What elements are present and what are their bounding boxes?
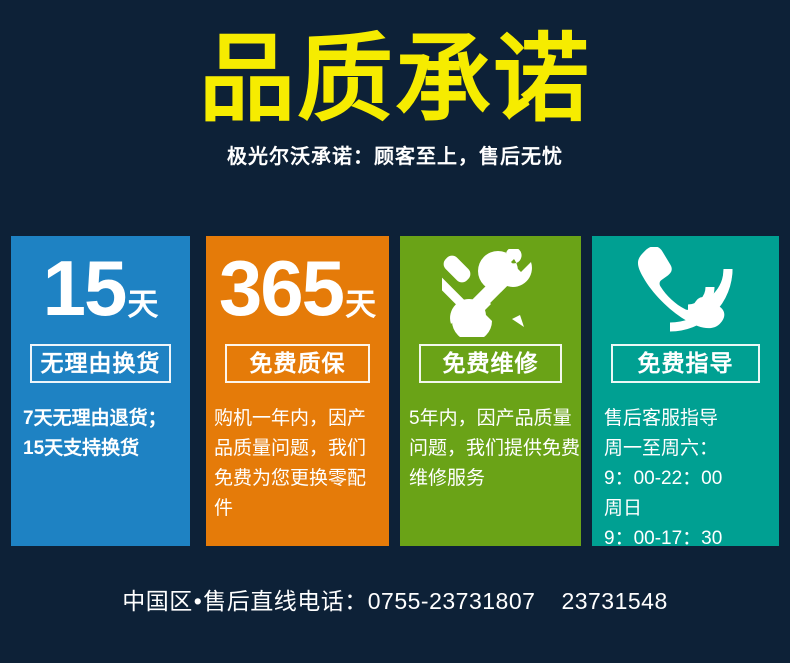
card-badge: 免费质保 — [225, 344, 370, 383]
card-body-line: 维修服务 — [409, 464, 575, 494]
footer-phone-primary[interactable]: 0755-23731807 — [368, 588, 536, 614]
card-number: 365 — [219, 244, 343, 332]
card-number-row: 15天 — [11, 238, 190, 338]
card-body-line: 9：00-22：00 — [604, 464, 773, 494]
card-badge-label: 免费维修 — [443, 352, 539, 375]
card-body-line: 品质量问题，我们 — [214, 434, 383, 464]
promise-card-free-guidance[interactable]: 免费指导 售后客服指导 周一至周六： 9：00-22：00 周日 9：00-17… — [592, 236, 779, 546]
card-body-line: 售后客服指导 — [604, 404, 773, 434]
footer-separator: • — [193, 588, 204, 614]
card-body-line: 周日 — [604, 494, 773, 524]
card-number-row: 365天 — [206, 238, 389, 338]
footer-phone-secondary[interactable]: 23731548 — [561, 588, 667, 614]
card-body: 购机一年内，因产 品质量问题，我们 免费为您更换零配 件 — [214, 404, 383, 524]
card-number-unit: 天 — [345, 287, 376, 322]
page-title: 品质承诺 — [0, 28, 790, 132]
card-body: 5年内，因产品质量 问题，我们提供免费 维修服务 — [409, 404, 575, 494]
card-body-line: 9：00-17：30 — [604, 524, 773, 546]
card-body-line: 件 — [214, 494, 383, 524]
card-body: 7天无理由退货； 15天支持换货 — [23, 404, 184, 464]
card-badge: 免费维修 — [419, 344, 562, 383]
card-number-unit: 天 — [127, 287, 158, 322]
card-badge: 免费指导 — [611, 344, 760, 383]
card-number: 15 — [43, 244, 126, 332]
promise-banner: 品质承诺 极光尔沃承诺：顾客至上，售后无忧 15天 无理由换货 7天无理由退货；… — [0, 0, 790, 663]
card-body-line: 5年内，因产品质量 — [409, 404, 575, 434]
card-body-line: 问题，我们提供免费 — [409, 434, 575, 464]
footer-region-label: 中国区 — [122, 588, 193, 614]
card-body: 售后客服指导 周一至周六： 9：00-22：00 周日 9：00-17：30 — [604, 404, 773, 546]
promise-card-list: 15天 无理由换货 7天无理由退货； 15天支持换货 365天 免费质保 购机一… — [11, 236, 779, 546]
card-badge-label: 免费质保 — [250, 352, 346, 375]
promise-card-no-reason-exchange[interactable]: 15天 无理由换货 7天无理由退货； 15天支持换货 — [11, 236, 190, 546]
promise-card-free-repair[interactable]: 免费维修 5年内，因产品质量 问题，我们提供免费 维修服务 — [400, 236, 581, 546]
footer-hotline: 中国区•售后直线电话：0755-2373180723731548 — [0, 584, 790, 618]
card-body-line: 15天支持换货 — [23, 434, 184, 464]
card-badge: 无理由换货 — [30, 344, 171, 383]
card-body-line: 购机一年内，因产 — [214, 404, 383, 434]
card-badge-label: 无理由换货 — [41, 352, 161, 375]
wrench-screwdriver-icon — [400, 244, 581, 342]
promise-card-free-warranty[interactable]: 365天 免费质保 购机一年内，因产 品质量问题，我们 免费为您更换零配 件 — [206, 236, 389, 546]
banner-header: 品质承诺 极光尔沃承诺：顾客至上，售后无忧 — [0, 0, 790, 222]
phone-ringing-icon — [592, 244, 779, 342]
card-body-line: 7天无理由退货； — [23, 404, 184, 434]
card-badge-label: 免费指导 — [638, 352, 734, 375]
page-subtitle: 极光尔沃承诺：顾客至上，售后无忧 — [0, 142, 790, 172]
footer-hotline-label: 售后直线电话： — [203, 588, 368, 614]
card-body-line: 免费为您更换零配 — [214, 464, 383, 494]
card-body-line: 周一至周六： — [604, 434, 773, 464]
